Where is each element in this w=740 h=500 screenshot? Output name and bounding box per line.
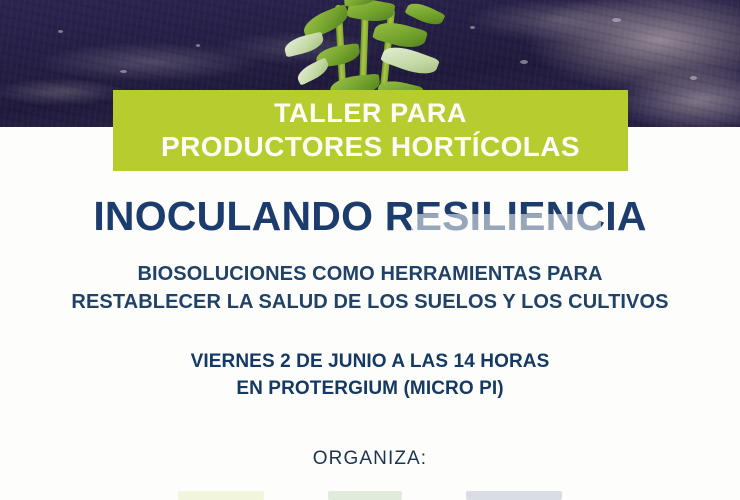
organizer-logo xyxy=(328,491,402,500)
headline-wrapper: INOCULANDO RESILIENCIA xyxy=(93,196,646,237)
event-venue-line: EN PROTERGIUM (MICRO PI) xyxy=(0,375,740,403)
banner-line-2: PRODUCTORES HORTÍCOLAS xyxy=(161,130,580,163)
soil-speck xyxy=(58,30,63,33)
banner-line-1: TALLER PARA xyxy=(274,99,467,127)
organizer-logo xyxy=(178,491,264,500)
subtitle-line-2: RESTABLECER LA SALUD DE LOS SUELOS Y LOS… xyxy=(0,288,740,316)
organizer-label: ORGANIZA: xyxy=(0,448,740,470)
soil-speck xyxy=(196,44,200,47)
workshop-banner: TALLER PARA PRODUCTORES HORTÍCOLAS xyxy=(113,90,628,171)
organizer-logo xyxy=(466,491,562,500)
soil-speck xyxy=(120,70,127,73)
soil-speck xyxy=(690,76,697,80)
event-details-block: VIERNES 2 DE JUNIO A LAS 14 HORAS EN PRO… xyxy=(0,348,740,403)
event-date-line: VIERNES 2 DE JUNIO A LAS 14 HORAS xyxy=(0,348,740,376)
subtitle-block: BIOSOLUCIONES COMO HERRAMIENTAS PARA RES… xyxy=(0,260,740,317)
soil-speck xyxy=(520,60,528,64)
soil-speck xyxy=(612,18,621,22)
subtitle-line-1: BIOSOLUCIONES COMO HERRAMIENTAS PARA xyxy=(0,260,740,288)
poster-content: INOCULANDO RESILIENCIA BIOSOLUCIONES COM… xyxy=(0,171,740,470)
organizer-logo-strip xyxy=(0,491,740,500)
event-poster: TALLER PARA PRODUCTORES HORTÍCOLAS INOCU… xyxy=(0,0,740,500)
page-title: INOCULANDO RESILIENCIA xyxy=(93,196,646,237)
